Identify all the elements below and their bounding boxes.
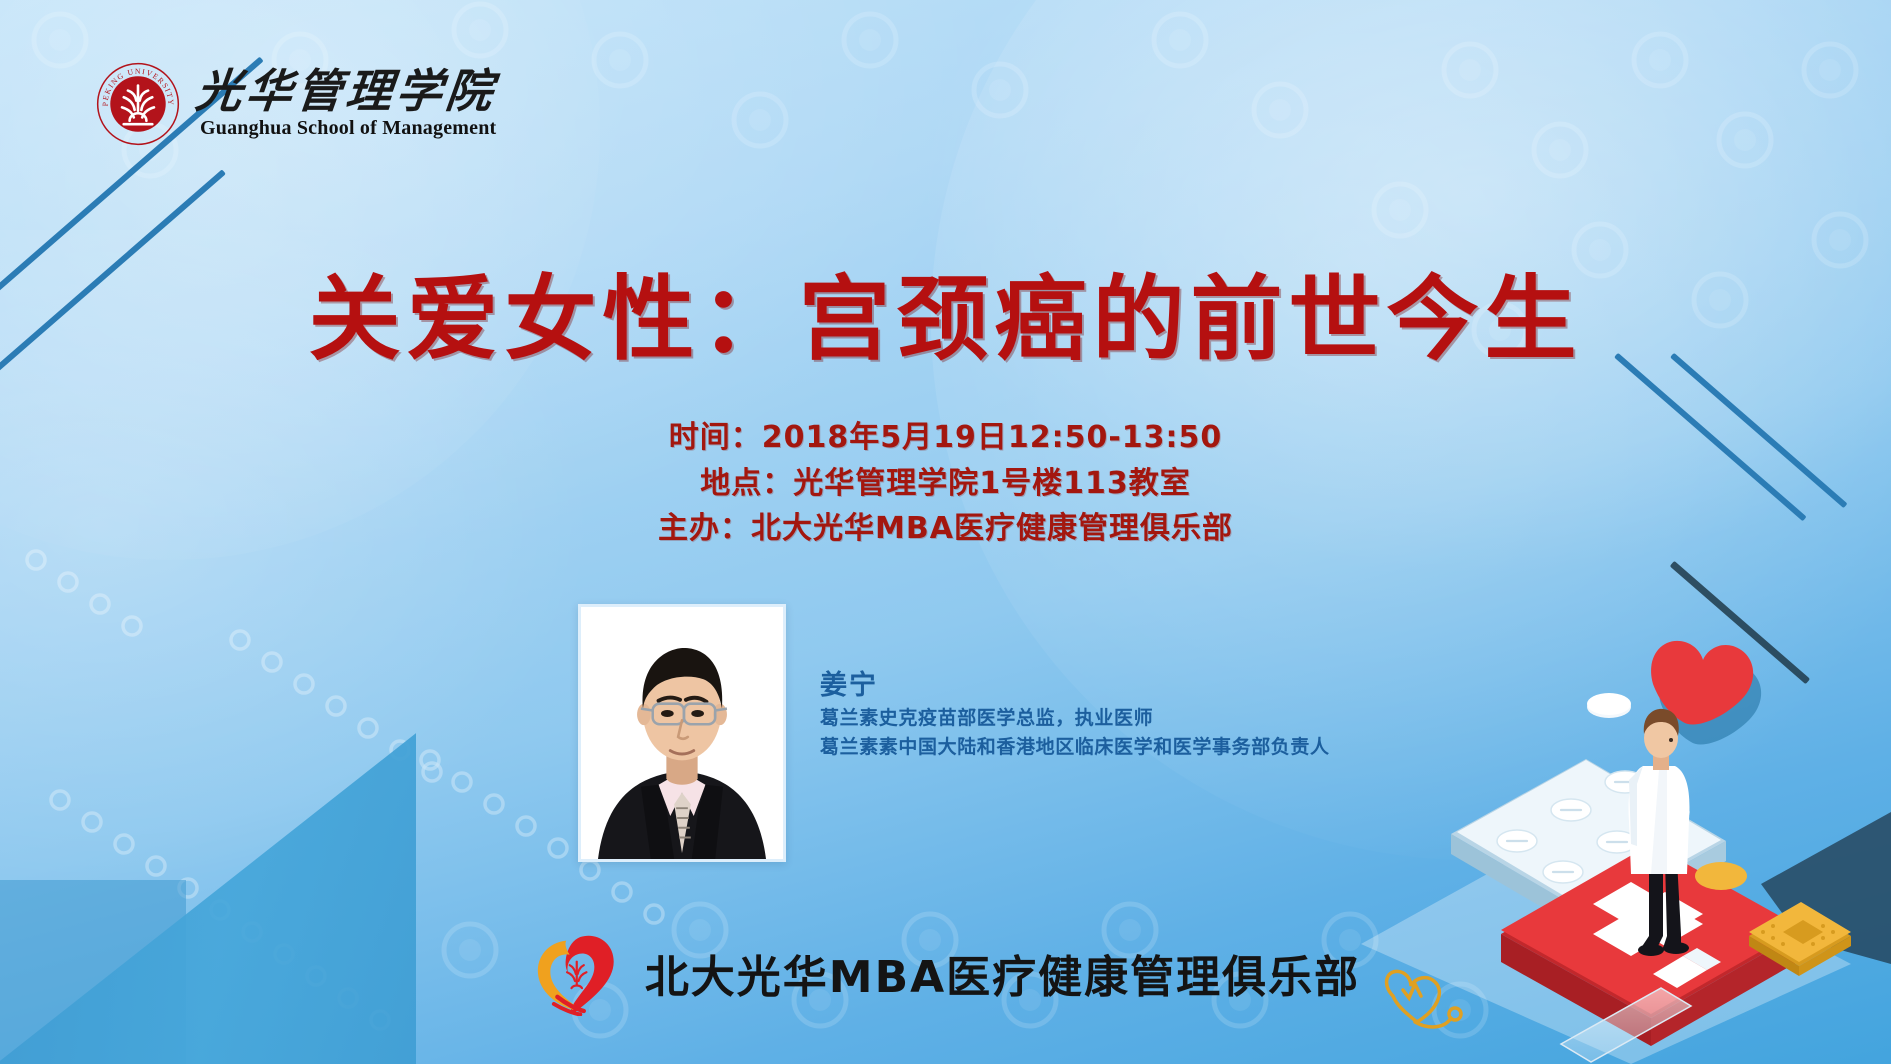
medical-illustration — [1331, 544, 1891, 1064]
poster-canvas: PEKING UNIVERSITY 1898 — [0, 0, 1891, 1064]
speaker-block: 姜宁 葛兰素史克疫苗部医学总监，执业医师 葛兰素素中国大陆和香港地区临床医学和医… — [578, 604, 1330, 862]
speaker-photo — [578, 604, 786, 862]
peking-university-seal-icon: PEKING UNIVERSITY 1898 — [96, 62, 180, 146]
logo-school-name-en: Guanghua School of Management — [200, 117, 496, 140]
speaker-title-line-1: 葛兰素史克疫苗部医学总监，执业医师 — [820, 704, 1330, 733]
event-place: 地点：光华管理学院1号楼113教室 — [0, 461, 1891, 507]
logo-school-name-cn: 光华管理学院 — [194, 68, 499, 115]
club-heart-logo-icon — [531, 930, 619, 1016]
speaker-title-line-2: 葛兰素素中国大陆和香港地区临床医学和医学事务部负责人 — [820, 733, 1330, 762]
university-logo: PEKING UNIVERSITY 1898 — [96, 62, 496, 146]
event-details: 时间：2018年5月19日12:50-13:50 地点：光华管理学院1号楼113… — [0, 415, 1891, 552]
speaker-name: 姜宁 — [820, 668, 1330, 704]
club-name: 北大光华MBA医疗健康管理俱乐部 — [645, 941, 1360, 1005]
page-title: 关爱女性：宫颈癌的前世今生 — [0, 245, 1891, 378]
event-time: 时间：2018年5月19日12:50-13:50 — [0, 415, 1891, 461]
